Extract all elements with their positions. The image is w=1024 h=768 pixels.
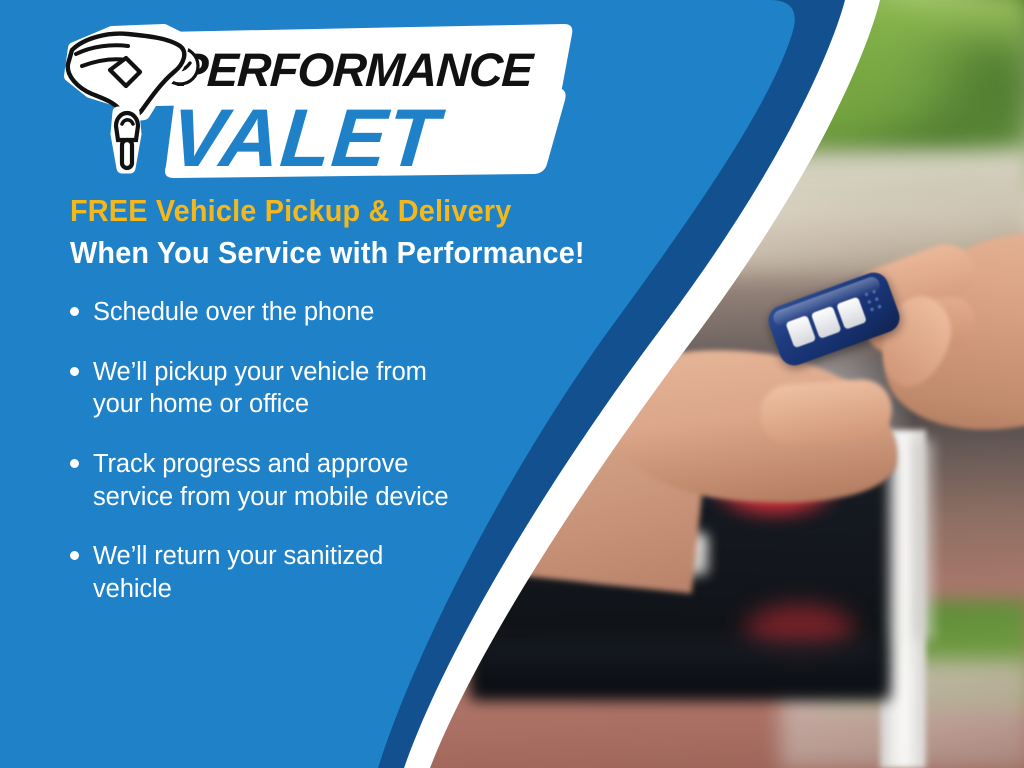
promo-banner: PERFORMANCE VALET <box>0 0 1024 768</box>
list-item: We’ll return your sanitized vehicle <box>66 540 586 605</box>
headline-line-2: When You Service with Performance! <box>70 236 647 271</box>
list-item: We’ll pickup your vehicle from your home… <box>66 356 586 421</box>
performance-valet-logo[interactable]: PERFORMANCE VALET <box>56 14 576 184</box>
bullet-icon <box>70 459 79 468</box>
list-item: Track progress and approve service from … <box>66 448 586 513</box>
list-item-label: Track progress and approve service from … <box>93 448 448 513</box>
bullet-icon <box>70 307 79 316</box>
logo-performance-text: PERFORMANCE <box>176 43 536 96</box>
list-item-label: We’ll pickup your vehicle from your home… <box>93 356 427 421</box>
list-item-label: Schedule over the phone <box>93 296 374 329</box>
headline-line-1: FREE Vehicle Pickup & Delivery <box>70 194 647 229</box>
benefits-list: Schedule over the phone We’ll pickup you… <box>66 296 586 632</box>
logo-artwork: PERFORMANCE VALET <box>56 14 576 184</box>
list-item: Schedule over the phone <box>66 296 586 329</box>
logo-valet-text: VALET <box>167 93 447 184</box>
headline-block: FREE Vehicle Pickup & Delivery When You … <box>70 194 690 270</box>
bullet-icon <box>70 367 79 376</box>
list-item-label: We’ll return your sanitized vehicle <box>93 540 383 605</box>
panel-content: PERFORMANCE VALET <box>0 0 700 768</box>
bullet-icon <box>70 551 79 560</box>
